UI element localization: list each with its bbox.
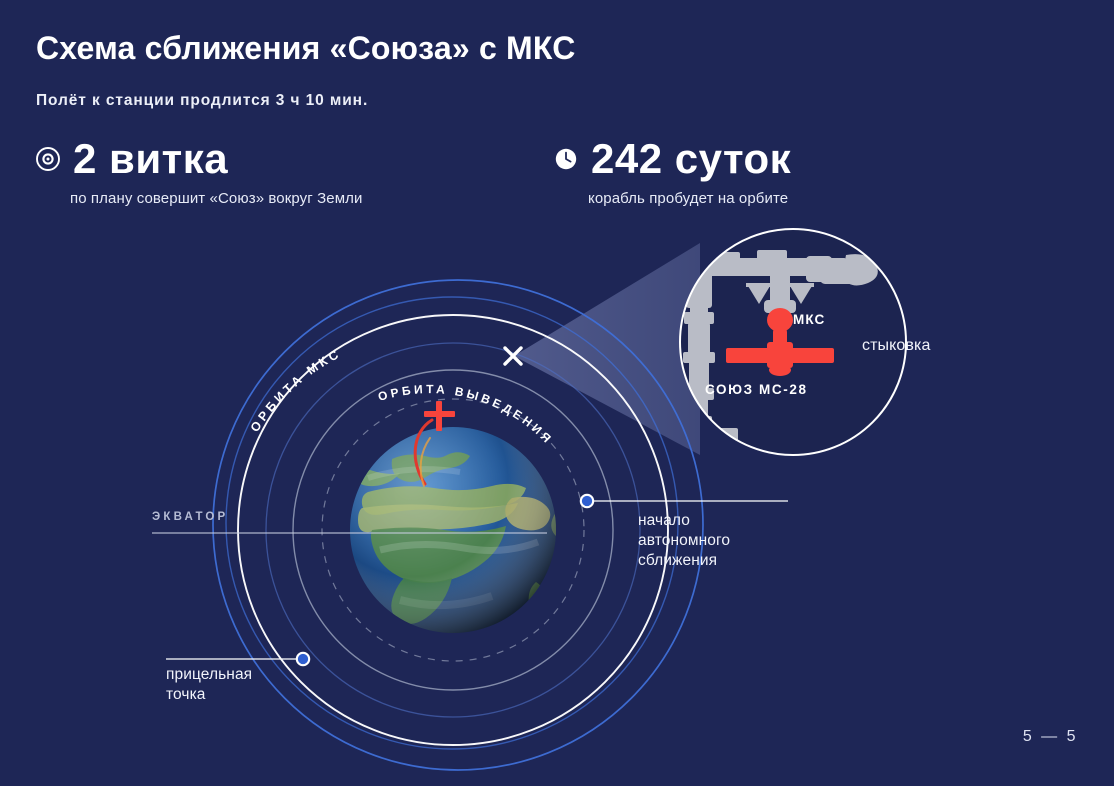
callout-docking: стыковка bbox=[862, 336, 930, 357]
callout-aim-point: прицельная точка bbox=[166, 665, 346, 705]
callout-start-line-3: сближения bbox=[638, 551, 818, 571]
page-number: 5 — 5 bbox=[1023, 728, 1078, 746]
rocket-cross-icon bbox=[424, 401, 455, 431]
callout-aim-line-1: прицельная bbox=[166, 665, 346, 685]
infographic-canvas: Схема сближения «Союза» с МКС Полёт к ст… bbox=[0, 0, 1114, 786]
earth bbox=[350, 427, 580, 633]
detail-iss-label: МКС bbox=[793, 312, 825, 327]
callout-aim-line-2: точка bbox=[166, 685, 346, 705]
callout-start-line-1: начало bbox=[638, 511, 818, 531]
node-aim-point[interactable] bbox=[297, 653, 309, 665]
detail-soyuz-label: СОЮЗ МС-28 bbox=[705, 382, 808, 397]
equator-label: ЭКВАТОР bbox=[152, 511, 228, 523]
callout-start-line-2: автономного bbox=[638, 531, 818, 551]
callout-start-approach: начало автономного сближения bbox=[638, 511, 818, 571]
node-start-approach[interactable] bbox=[581, 495, 593, 507]
